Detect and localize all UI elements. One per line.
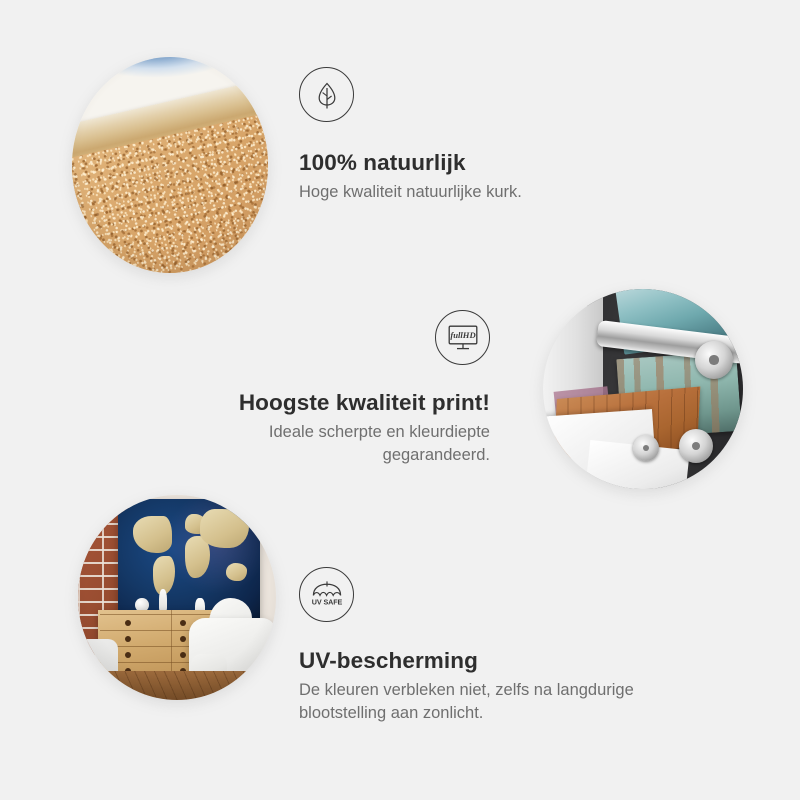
printer-photo-wheel	[633, 435, 659, 461]
printer-photo-wheel	[679, 429, 713, 463]
feature-block-natural: 100% natuurlijk Hoge kwaliteit natuurlij…	[299, 67, 629, 204]
living-room-world-map-photo	[78, 495, 276, 700]
uv-safe-label: UV SAFE	[311, 597, 342, 606]
fullhd-label: fullHD	[450, 330, 475, 340]
fullhd-monitor-icon-glyph: fullHD	[446, 323, 480, 353]
cork-board-closeup-photo	[72, 57, 268, 273]
feature-title: UV-bescherming	[299, 647, 691, 675]
uv-safe-umbrella-icon-glyph: UV SAFE	[307, 578, 347, 612]
feature-banner: 100% natuurlijk Hoge kwaliteit natuurlij…	[0, 0, 800, 800]
feature-description: Hoge kwaliteit natuurlijke kurk.	[299, 181, 629, 204]
fullhd-monitor-icon: fullHD	[435, 310, 490, 365]
cork-photo-vignette	[72, 57, 268, 273]
feature-block-print: fullHD Hoogste kwaliteit print! Ideale s…	[222, 310, 490, 467]
leaf-icon	[299, 67, 354, 122]
feature-description: Ideale scherpte en kleurdiepte gegarande…	[222, 421, 490, 467]
feature-title: 100% natuurlijk	[299, 149, 629, 177]
feature-title: Hoogste kwaliteit print!	[222, 389, 490, 417]
uv-safe-umbrella-icon: UV SAFE	[299, 567, 354, 622]
feature-block-uv: UV SAFE UV-bescherming De kleuren verble…	[299, 567, 691, 725]
feature-description: De kleuren verbleken niet, zelfs na lang…	[299, 679, 691, 725]
printer-photo-wheel	[695, 341, 733, 379]
room-photo-vignette	[78, 495, 276, 700]
printing-press-photo	[543, 289, 743, 489]
leaf-icon-glyph	[312, 80, 342, 110]
